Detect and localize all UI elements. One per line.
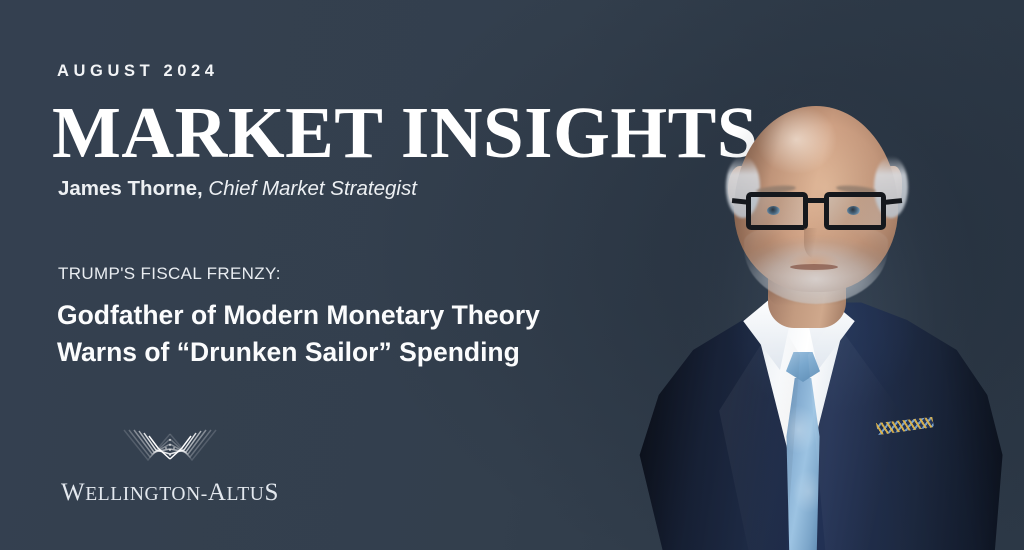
mouth xyxy=(790,264,838,270)
article-headline: Godfather of Modern Monetary Theory Warn… xyxy=(57,297,540,371)
wordmark-a: A xyxy=(208,479,227,506)
wellington-altus-wordmark: WELLINGTON-ALTUS xyxy=(50,479,290,507)
eye-right xyxy=(847,206,860,215)
author-byline: James Thorne, Chief Market Strategist xyxy=(58,177,417,201)
wordmark-s: S xyxy=(264,479,279,506)
author-role: Chief Market Strategist xyxy=(208,177,417,200)
eye-left xyxy=(767,206,780,215)
author-name: James Thorne, xyxy=(58,177,203,200)
wordmark-ellington: ELLINGTON xyxy=(85,484,201,505)
article-kicker: TRUMP'S FISCAL FRENZY: xyxy=(58,264,281,284)
nose xyxy=(804,228,824,258)
glasses-bridge xyxy=(806,198,826,203)
wordmark-hyphen: - xyxy=(201,484,208,505)
headline-line-2: Warns of “Drunken Sailor” Spending xyxy=(57,334,540,371)
wordmark-ltu: LTU xyxy=(227,484,265,505)
james-thorne-portrait xyxy=(628,0,1024,550)
wellington-altus-chevron-icon xyxy=(122,424,218,474)
market-insights-banner: AUGUST 2024 MARKET INSIGHTS James Thorne… xyxy=(0,0,1024,550)
wellington-altus-logo: WELLINGTON-ALTUS xyxy=(50,424,290,507)
headline-line-1: Godfather of Modern Monetary Theory xyxy=(57,297,540,334)
issue-date: AUGUST 2024 xyxy=(57,62,219,81)
wordmark-w: W xyxy=(61,479,85,506)
